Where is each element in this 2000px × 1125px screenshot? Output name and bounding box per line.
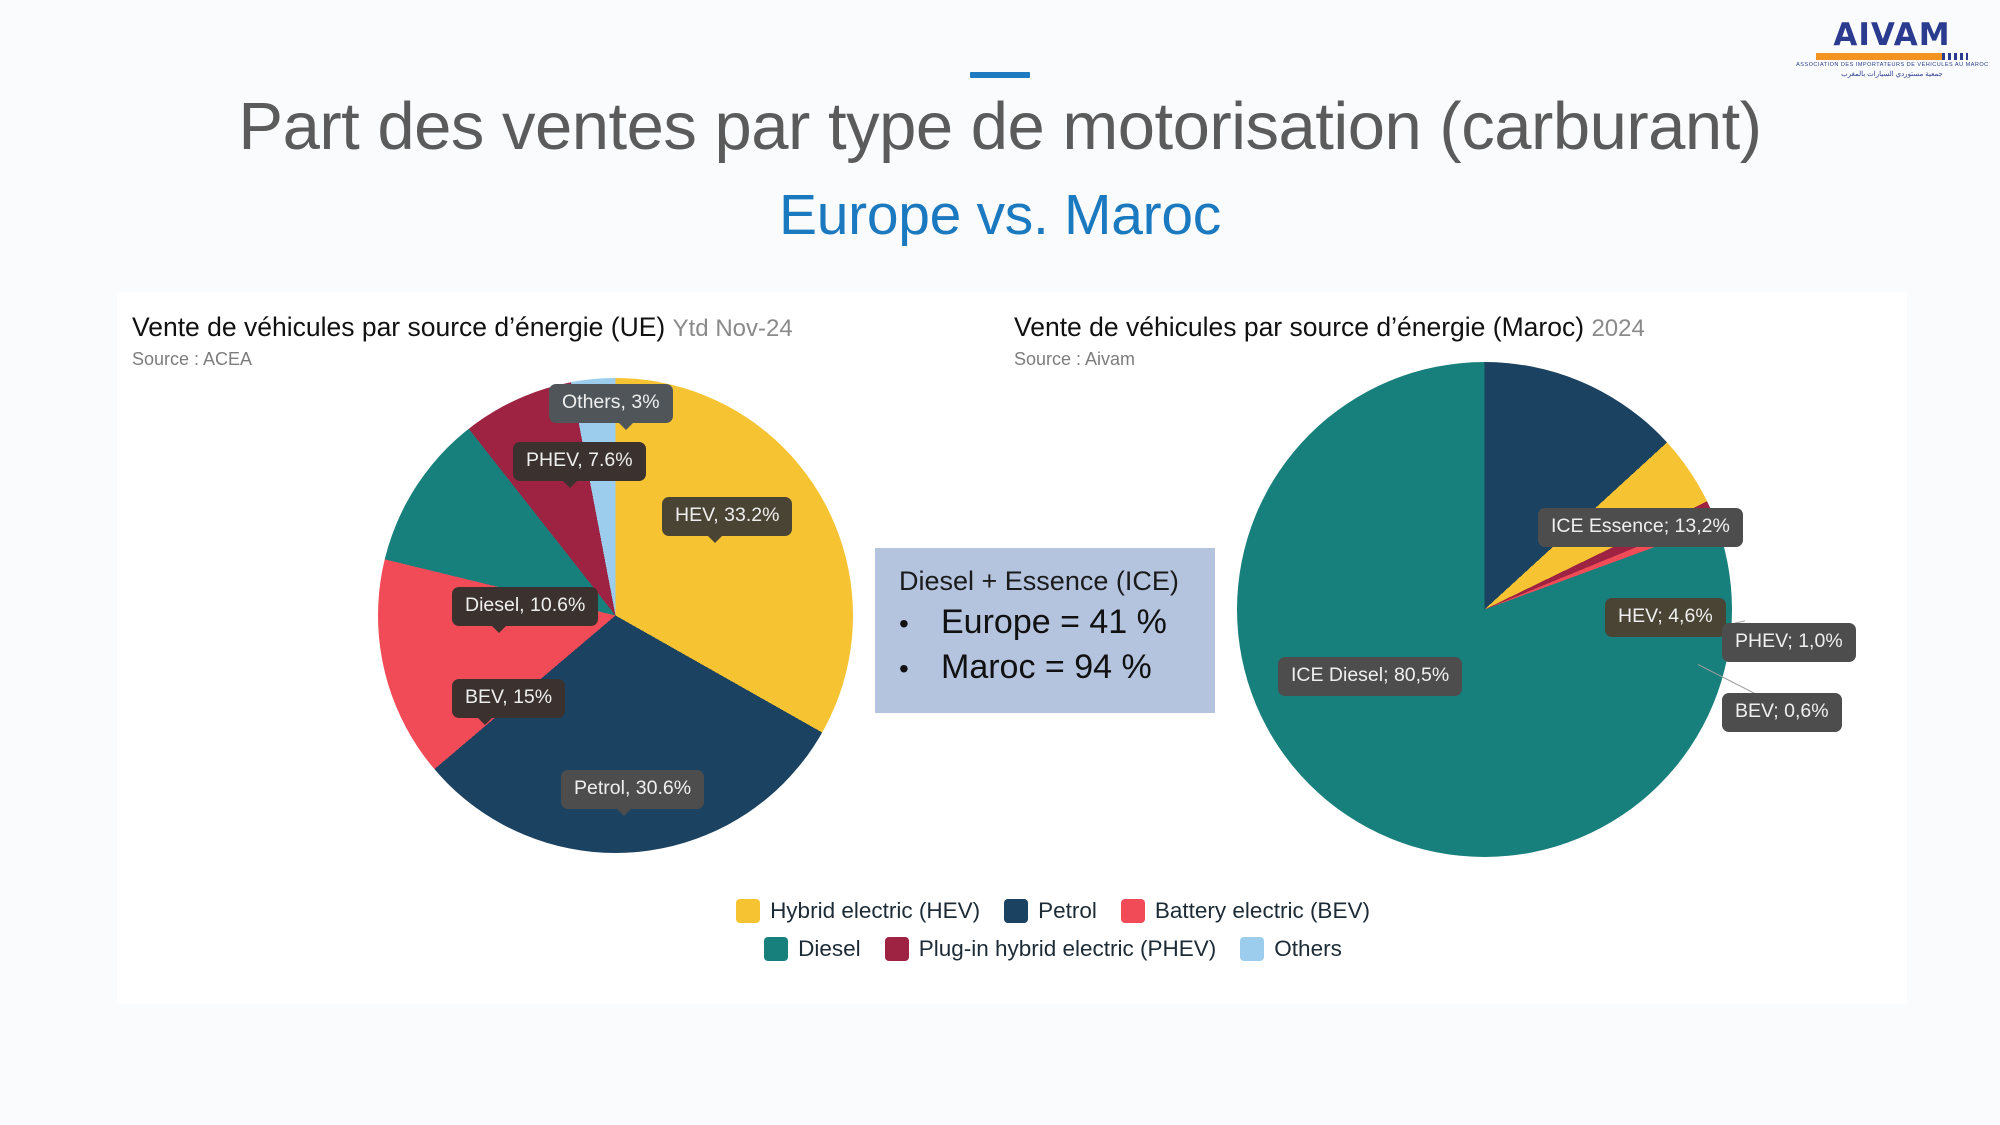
ice-box-title: Diesel + Essence (ICE) <box>899 566 1197 597</box>
maroc-label-ice-essence: ICE Essence; 13,2% <box>1538 508 1743 547</box>
legend-label-petrol: Petrol <box>1038 898 1097 924</box>
legend-swatch-diesel <box>764 937 788 961</box>
legend-label-diesel: Diesel <box>798 936 861 962</box>
maroc-label-ice-diesel: ICE Diesel; 80,5% <box>1278 657 1462 696</box>
page-subtitle: Europe vs. Maroc <box>0 182 2000 248</box>
eu-label-phev: PHEV, 7.6% <box>513 442 646 481</box>
maroc-chart-source: Source : Aivam <box>1014 349 1645 370</box>
ice-box-maroc-value: Maroc = 94 % <box>941 648 1152 687</box>
slide-root: AIVAM ASSOCIATION DES IMPORTATEURS DE VÉ… <box>0 0 2000 1125</box>
maroc-chart-header: Vente de véhicules par source d’énergie … <box>1014 312 1645 370</box>
legend-item-bev[interactable]: Battery electric (BEV) <box>1121 898 1370 924</box>
legend-item-diesel[interactable]: Diesel <box>764 936 861 962</box>
legend-swatch-others <box>1240 937 1264 961</box>
bullet-icon: • <box>895 608 941 640</box>
ice-box-row-europe: • Europe = 41 % <box>895 603 1197 642</box>
maroc-chart-period: 2024 <box>1591 315 1644 342</box>
legend-swatch-phev <box>885 937 909 961</box>
legend-item-petrol[interactable]: Petrol <box>1004 898 1097 924</box>
eu-chart-source: Source : ACEA <box>132 349 793 370</box>
ice-box-row-maroc: • Maroc = 94 % <box>895 648 1197 687</box>
ice-summary-box: Diesel + Essence (ICE) • Europe = 41 % •… <box>875 548 1215 713</box>
eu-chart-header: Vente de véhicules par source d’énergie … <box>132 312 793 370</box>
eu-chart-period: Ytd Nov-24 <box>673 315 793 342</box>
eu-label-hev: HEV, 33.2% <box>662 497 792 536</box>
page-title: Part des ventes par type de motorisation… <box>0 88 2000 165</box>
logo-arabic-line: جمعية مستوردي السيارات بالمغرب <box>1841 70 1943 78</box>
bullet-icon: • <box>895 653 941 685</box>
ice-box-europe-value: Europe = 41 % <box>941 603 1167 642</box>
legend-swatch-petrol <box>1004 899 1028 923</box>
maroc-label-bev: BEV; 0,6% <box>1722 693 1842 732</box>
legend-swatch-hev <box>736 899 760 923</box>
eu-chart-title-text: Vente de véhicules par source d’énergie … <box>132 312 665 342</box>
legend-item-others[interactable]: Others <box>1240 936 1342 962</box>
maroc-chart-title: Vente de véhicules par source d’énergie … <box>1014 312 1645 343</box>
legend-item-hev[interactable]: Hybrid electric (HEV) <box>736 898 980 924</box>
maroc-label-hev: HEV; 4,6% <box>1605 598 1726 637</box>
eu-label-petrol: Petrol, 30.6% <box>561 770 704 809</box>
eu-label-bev: BEV, 15% <box>452 679 565 718</box>
eu-label-others: Others, 3% <box>549 384 673 423</box>
logo-wordmark: AIVAM <box>1833 20 1950 51</box>
aivam-logo: AIVAM ASSOCIATION DES IMPORTATEURS DE VÉ… <box>1812 20 1972 82</box>
legend-row-1: Hybrid electric (HEV) Petrol Battery ele… <box>733 898 1373 924</box>
eu-chart-title: Vente de véhicules par source d’énergie … <box>132 312 793 343</box>
chart-legend: Hybrid electric (HEV) Petrol Battery ele… <box>733 898 1373 974</box>
legend-label-bev: Battery electric (BEV) <box>1155 898 1370 924</box>
eu-label-diesel: Diesel, 10.6% <box>452 587 598 626</box>
maroc-label-phev: PHEV; 1,0% <box>1722 623 1856 662</box>
legend-label-hev: Hybrid electric (HEV) <box>770 898 980 924</box>
legend-label-phev: Plug-in hybrid electric (PHEV) <box>919 936 1217 962</box>
legend-row-2: Diesel Plug-in hybrid electric (PHEV) Ot… <box>733 936 1373 962</box>
logo-subline: ASSOCIATION DES IMPORTATEURS DE VÉHICULE… <box>1796 62 1989 68</box>
legend-label-others: Others <box>1274 936 1342 962</box>
legend-item-phev[interactable]: Plug-in hybrid electric (PHEV) <box>885 936 1217 962</box>
maroc-chart-title-text: Vente de véhicules par source d’énergie … <box>1014 312 1584 342</box>
logo-orange-bar <box>1816 53 1968 60</box>
legend-swatch-bev <box>1121 899 1145 923</box>
title-divider-dash <box>970 72 1030 78</box>
